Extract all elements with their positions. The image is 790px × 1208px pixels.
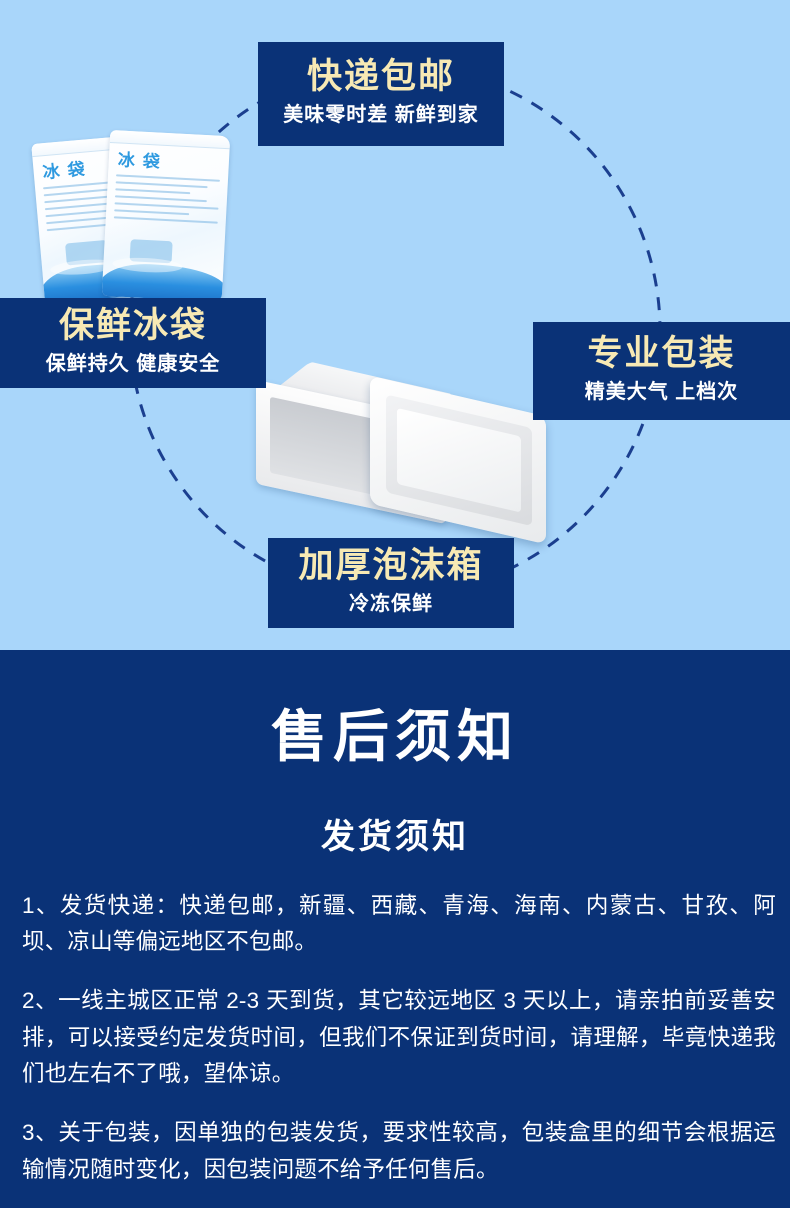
after-sales-title: 售后须知 bbox=[0, 692, 790, 773]
feature-subtitle-foam-box: 冷冻保鲜 bbox=[349, 591, 433, 617]
ice-pack-front: 冰袋 bbox=[102, 130, 231, 302]
after-sales-body: 1、发货快递：快递包邮，新疆、西藏、青海、海南、内蒙古、甘孜、阿坝、凉山等偏远地… bbox=[22, 888, 776, 1188]
notice-paragraph-3: 3、关于包装，因单独的包装发货，要求性较高，包装盒里的细节会根据运输情况随时变化… bbox=[22, 1115, 776, 1188]
feature-label-icepack: 保鲜冰袋 保鲜持久 健康安全 bbox=[0, 298, 266, 388]
after-sales-notice-section: 售后须知 发货须知 1、发货快递：快递包邮，新疆、西藏、青海、海南、内蒙古、甘孜… bbox=[0, 650, 790, 1208]
feature-title-packaging: 专业包装 bbox=[587, 333, 735, 374]
foam-box-lid bbox=[370, 376, 546, 545]
packaging-feature-section: 冰袋 冰袋 快递包邮 美味零时差 新鲜到家 保鲜冰袋 bbox=[0, 0, 790, 650]
after-sales-subtitle: 发货须知 bbox=[0, 809, 790, 858]
notice-paragraph-2: 2、一线主城区正常 2-3 天到货，其它较远地区 3 天以上，请亲拍前妥善安排，… bbox=[22, 983, 776, 1092]
feature-subtitle-icepack: 保鲜持久 健康安全 bbox=[46, 351, 221, 377]
feature-subtitle-packaging: 精美大气 上档次 bbox=[585, 379, 739, 405]
product-detail-page: 冰袋 冰袋 快递包邮 美味零时差 新鲜到家 保鲜冰袋 bbox=[0, 0, 790, 1208]
feature-title-icepack: 保鲜冰袋 bbox=[59, 305, 207, 346]
feature-label-packaging: 专业包装 精美大气 上档次 bbox=[533, 322, 790, 420]
feature-label-foam-box: 加厚泡沫箱 冷冻保鲜 bbox=[268, 538, 514, 628]
ice-pack-illustration: 冰袋 冰袋 bbox=[32, 133, 232, 305]
feature-title-express: 快递包邮 bbox=[307, 56, 455, 97]
notice-paragraph-1: 1、发货快递：快递包邮，新疆、西藏、青海、海南、内蒙古、甘孜、阿坝、凉山等偏远地… bbox=[22, 888, 776, 961]
foam-box-illustration bbox=[248, 392, 554, 540]
ice-pack-brand-text: 冰袋 bbox=[117, 145, 168, 173]
feature-title-foam-box: 加厚泡沫箱 bbox=[298, 545, 483, 586]
feature-label-express: 快递包邮 美味零时差 新鲜到家 bbox=[258, 42, 504, 146]
ice-pack-brand-text: 冰袋 bbox=[42, 154, 94, 183]
feature-subtitle-express: 美味零时差 新鲜到家 bbox=[283, 102, 479, 128]
ice-pack-liquid bbox=[102, 262, 228, 302]
ice-pack-text-lines bbox=[113, 174, 220, 235]
